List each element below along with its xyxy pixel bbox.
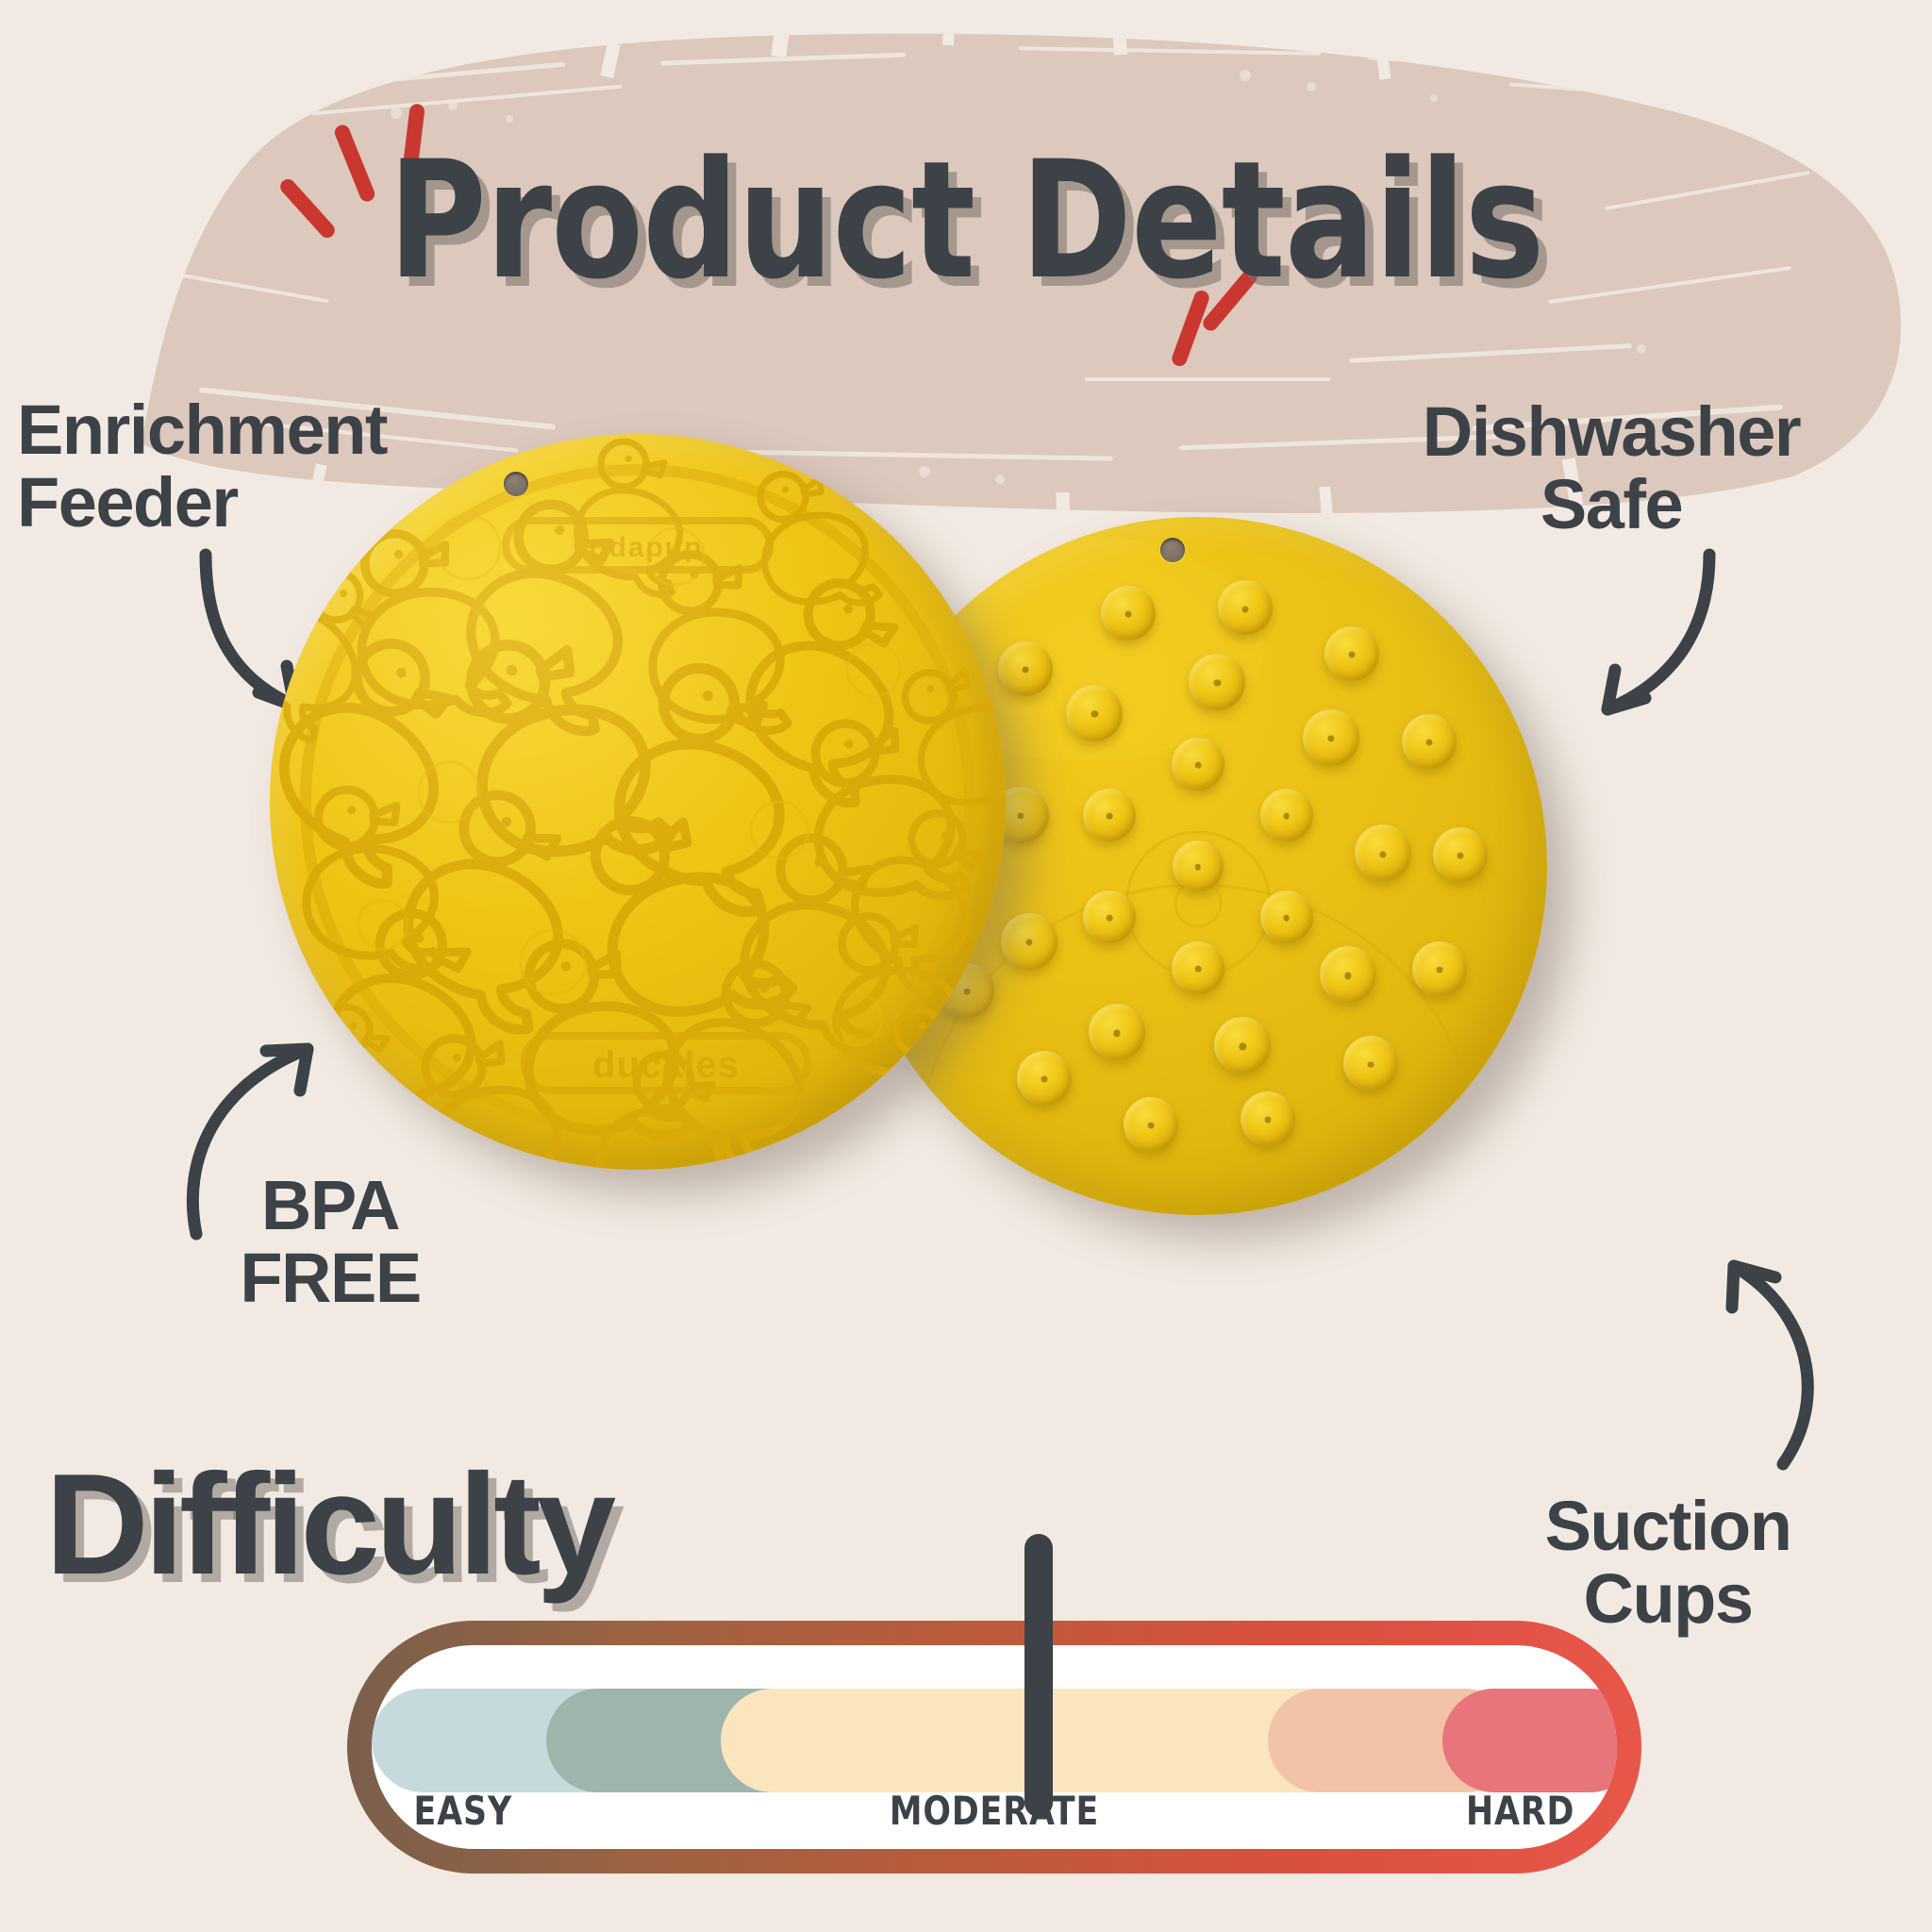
suction-cup-center [1195, 966, 1202, 973]
suction-cup-center [1148, 1122, 1155, 1128]
suction-cup [1218, 580, 1273, 635]
suction-cup [998, 641, 1053, 696]
difficulty-segments [372, 1689, 1617, 1792]
suction-cup [1303, 709, 1359, 766]
suction-cup-center [1240, 1043, 1246, 1050]
suction-cup [1172, 738, 1224, 791]
arrow-to-dishwasher-safe [1538, 547, 1726, 736]
feature-label-line-1: BPA [189, 1170, 472, 1242]
suction-cup [1001, 913, 1058, 970]
difficulty-meter-track: EASY MODERATE HARD [372, 1645, 1617, 1849]
suction-cup-center [1264, 1117, 1271, 1124]
suction-cup [1124, 1097, 1178, 1152]
hang-hole-back [1160, 538, 1185, 562]
suction-cup [1343, 1036, 1398, 1091]
suction-cup-center [1113, 1030, 1120, 1037]
suction-cup [1320, 946, 1376, 1003]
suction-cup [1101, 586, 1156, 641]
suction-cup [1241, 1091, 1295, 1146]
suction-cup [1433, 827, 1488, 882]
suction-cup-center [1425, 740, 1432, 746]
page-title: Product Details [77, 140, 1855, 302]
suction-cup-center [1107, 813, 1113, 820]
arrow-to-suction-cups [1660, 1245, 1849, 1472]
suction-cup-center [1241, 606, 1248, 612]
suction-cup-center [1344, 973, 1351, 979]
duck-pattern-lick-mat-front: sodapup duckles [270, 434, 1006, 1170]
suction-cup-center [1125, 611, 1132, 618]
suction-cup [1173, 841, 1224, 891]
suction-cup [1066, 685, 1123, 741]
difficulty-segment-hard [1442, 1689, 1617, 1792]
suction-cup-center [1436, 967, 1442, 974]
difficulty-scale-labels: EASY MODERATE HARD [372, 1783, 1617, 1834]
feature-label-line-1: Dishwasher [1319, 396, 1904, 469]
suction-cup-center [1195, 762, 1202, 769]
suction-cup-center [1367, 1061, 1374, 1068]
difficulty-scale-hard: HARD [1466, 1788, 1574, 1834]
suction-cup-center [1457, 852, 1463, 858]
suction-cup-center [1379, 851, 1386, 858]
suction-cup-center [1214, 680, 1221, 687]
difficulty-heading: Difficulty [45, 1453, 611, 1596]
difficulty-meter: EASY MODERATE HARD [347, 1621, 1641, 1874]
suction-cup [1260, 891, 1313, 943]
suction-cup-center [1023, 666, 1029, 673]
suction-cup-center [1349, 652, 1356, 658]
infographic-canvas: Product Details [0, 0, 1932, 1932]
difficulty-scale-easy: EASY [414, 1788, 513, 1834]
suction-cup [1355, 824, 1411, 881]
suction-cup [1402, 714, 1457, 769]
suction-cup-center [1327, 735, 1334, 741]
suction-cup [1089, 1004, 1145, 1060]
suction-cup-center [1025, 939, 1032, 945]
difficulty-indicator-needle [1024, 1534, 1053, 1817]
feature-label-line-2: FREE [189, 1242, 472, 1315]
feature-label-suction-cups: Suction Cups [1423, 1491, 1913, 1636]
feature-label-line-1: Suction [1423, 1491, 1913, 1563]
suction-cup [1260, 789, 1313, 841]
feature-label-bpa-free: BPA FREE [189, 1170, 472, 1315]
suction-cup-center [1091, 710, 1098, 717]
suction-cup-center [1017, 813, 1024, 820]
suction-cup-center [1195, 864, 1201, 870]
hang-hole-front [504, 472, 528, 496]
suction-cup-center [1041, 1076, 1047, 1083]
suction-cup-center [1107, 915, 1113, 922]
suction-cup [1412, 941, 1467, 996]
difficulty-scale-moderate: MODERATE [890, 1788, 1099, 1834]
suction-cup [1017, 1051, 1072, 1106]
suction-cup-center [1283, 813, 1290, 820]
suction-cup [1172, 941, 1224, 994]
duck-emboss-pattern: sodapup duckles [270, 434, 1006, 1170]
suction-cup-center [1283, 915, 1290, 922]
